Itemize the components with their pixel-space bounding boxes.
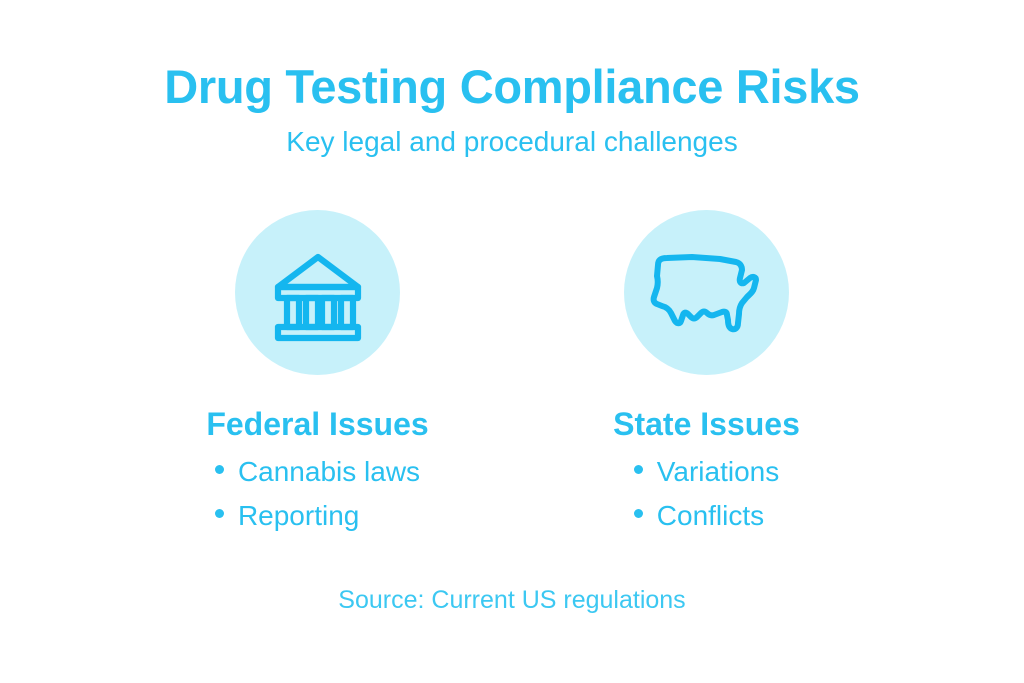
bullet-dot-icon (215, 465, 224, 474)
column-state: State Issues Variations Conflicts (512, 210, 901, 532)
column-federal: Federal Issues Cannabis laws Reporting (123, 210, 512, 532)
page-title: Drug Testing Compliance Risks (0, 62, 1024, 111)
bullet-label: Reporting (238, 500, 359, 532)
list-item: Cannabis laws (215, 456, 420, 488)
federal-icon-circle (235, 210, 400, 375)
source-note: Source: Current US regulations (0, 585, 1024, 615)
bullet-label: Variations (657, 456, 779, 488)
bullet-list-federal: Cannabis laws Reporting (215, 456, 420, 532)
columns-container: Federal Issues Cannabis laws Reporting (0, 210, 1024, 532)
list-item: Conflicts (634, 500, 779, 532)
bank-building-icon (266, 241, 370, 345)
bullet-list-state: Variations Conflicts (634, 456, 779, 532)
column-heading-state: State Issues (613, 408, 800, 442)
bullet-dot-icon (215, 509, 224, 518)
us-map-icon (648, 245, 766, 341)
infographic-canvas: Drug Testing Compliance Risks Key legal … (0, 0, 1024, 683)
column-heading-federal: Federal Issues (206, 408, 428, 442)
state-icon-circle (624, 210, 789, 375)
bullet-label: Conflicts (657, 500, 764, 532)
bullet-dot-icon (634, 465, 643, 474)
list-item: Reporting (215, 500, 420, 532)
list-item: Variations (634, 456, 779, 488)
bullet-label: Cannabis laws (238, 456, 420, 488)
bullet-dot-icon (634, 509, 643, 518)
header: Drug Testing Compliance Risks Key legal … (0, 62, 1024, 158)
page-subtitle: Key legal and procedural challenges (0, 127, 1024, 158)
